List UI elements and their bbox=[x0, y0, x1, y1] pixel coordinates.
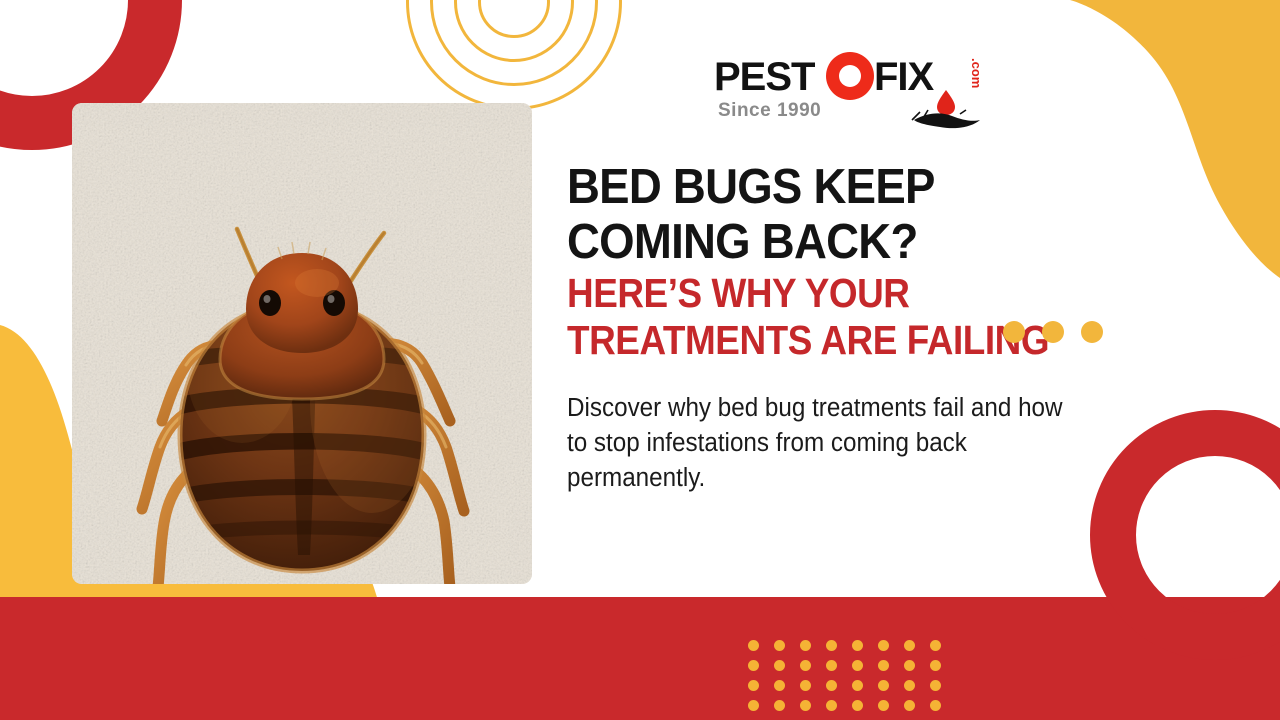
ring-2 bbox=[430, 0, 598, 86]
bottom-red-band bbox=[0, 597, 1280, 720]
accent-dot-2 bbox=[1042, 321, 1064, 343]
accent-dot-3 bbox=[1081, 321, 1103, 343]
ring-1 bbox=[406, 0, 622, 110]
pestofix-logo[interactable]: PEST FIX .com Since 1990 bbox=[714, 50, 1014, 130]
banner-canvas: PEST FIX .com Since 1990 BED BUGS KEEP C… bbox=[0, 0, 1280, 720]
body-copy: Discover why bed bug treatments fail and… bbox=[567, 391, 1080, 497]
subhead-line-1: HERE’S WHY YOUR bbox=[567, 270, 1107, 318]
ring-4 bbox=[478, 0, 550, 38]
headline-line-1: BED BUGS KEEP bbox=[567, 160, 1125, 215]
concentric-rings-decor bbox=[404, 0, 624, 112]
logo-domain-text: .com bbox=[969, 58, 984, 88]
logo-tagline: Since 1990 bbox=[718, 100, 821, 121]
ring-3 bbox=[454, 0, 574, 62]
accent-dot-1 bbox=[1003, 321, 1025, 343]
headline-line-2: COMING BACK? bbox=[567, 215, 1125, 270]
logo-text-pest: PEST bbox=[714, 55, 815, 99]
dot-grid-decor bbox=[748, 640, 956, 720]
bed-bug-photo bbox=[72, 103, 532, 584]
accent-dots-decor bbox=[1003, 321, 1103, 343]
logo-text-fix: FIX bbox=[874, 55, 935, 99]
